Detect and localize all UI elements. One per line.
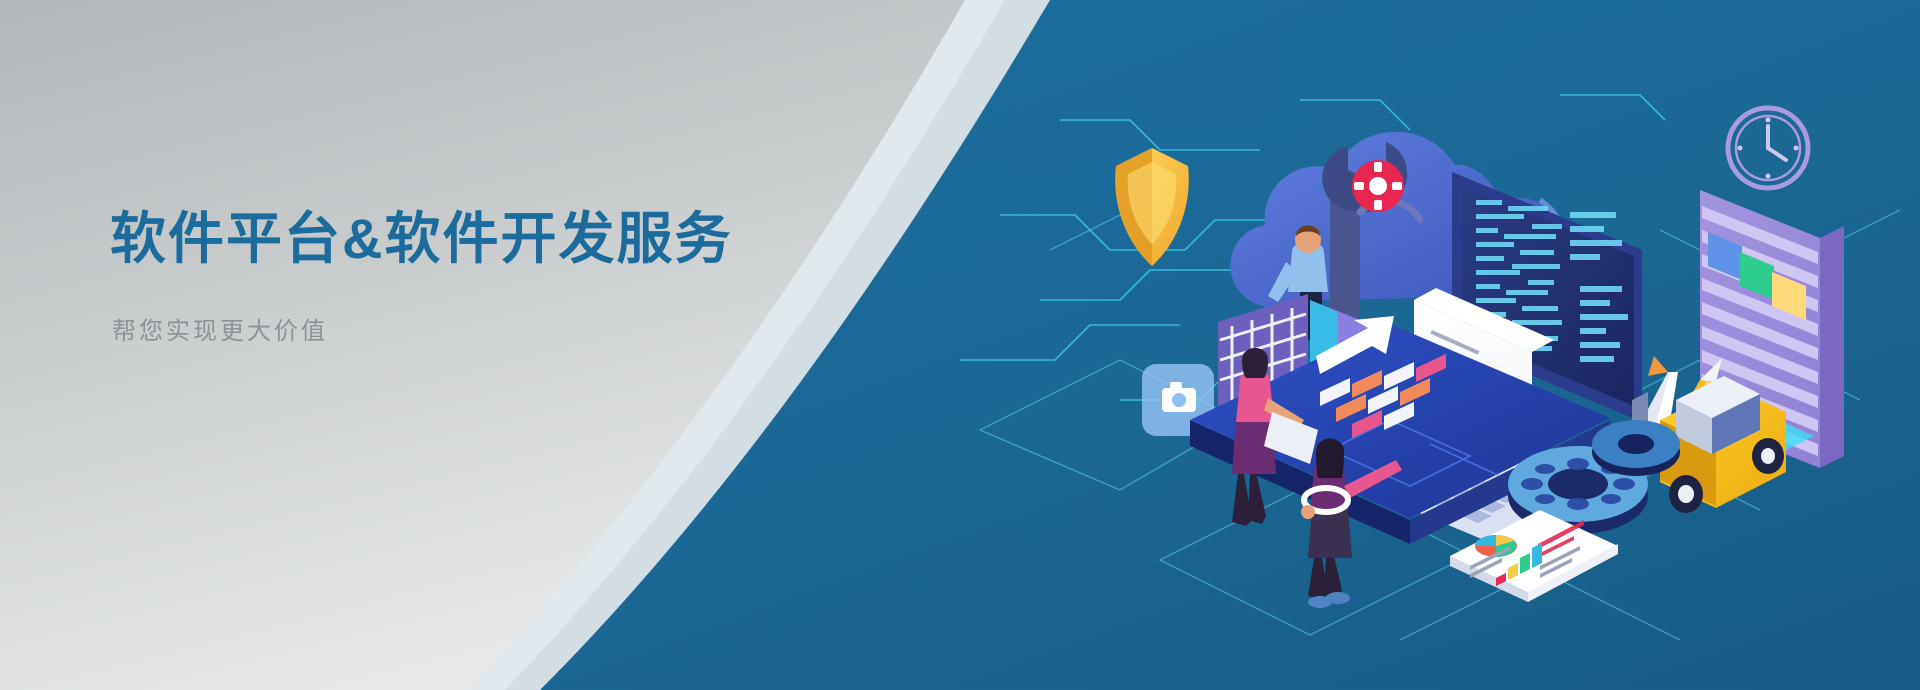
- gear-icon: [1352, 160, 1404, 212]
- banner-subline: 帮您实现更大价值: [112, 311, 732, 346]
- banner-copy: 软件平台&软件开发服务 帮您实现更大价值: [110, 208, 732, 346]
- banner-headline: 软件平台&软件开发服务: [110, 208, 732, 271]
- hero-banner: 软件平台&软件开发服务 帮您实现更大价值: [0, 0, 1920, 690]
- shield-icon: [1115, 148, 1189, 266]
- clock-icon: [1728, 108, 1808, 188]
